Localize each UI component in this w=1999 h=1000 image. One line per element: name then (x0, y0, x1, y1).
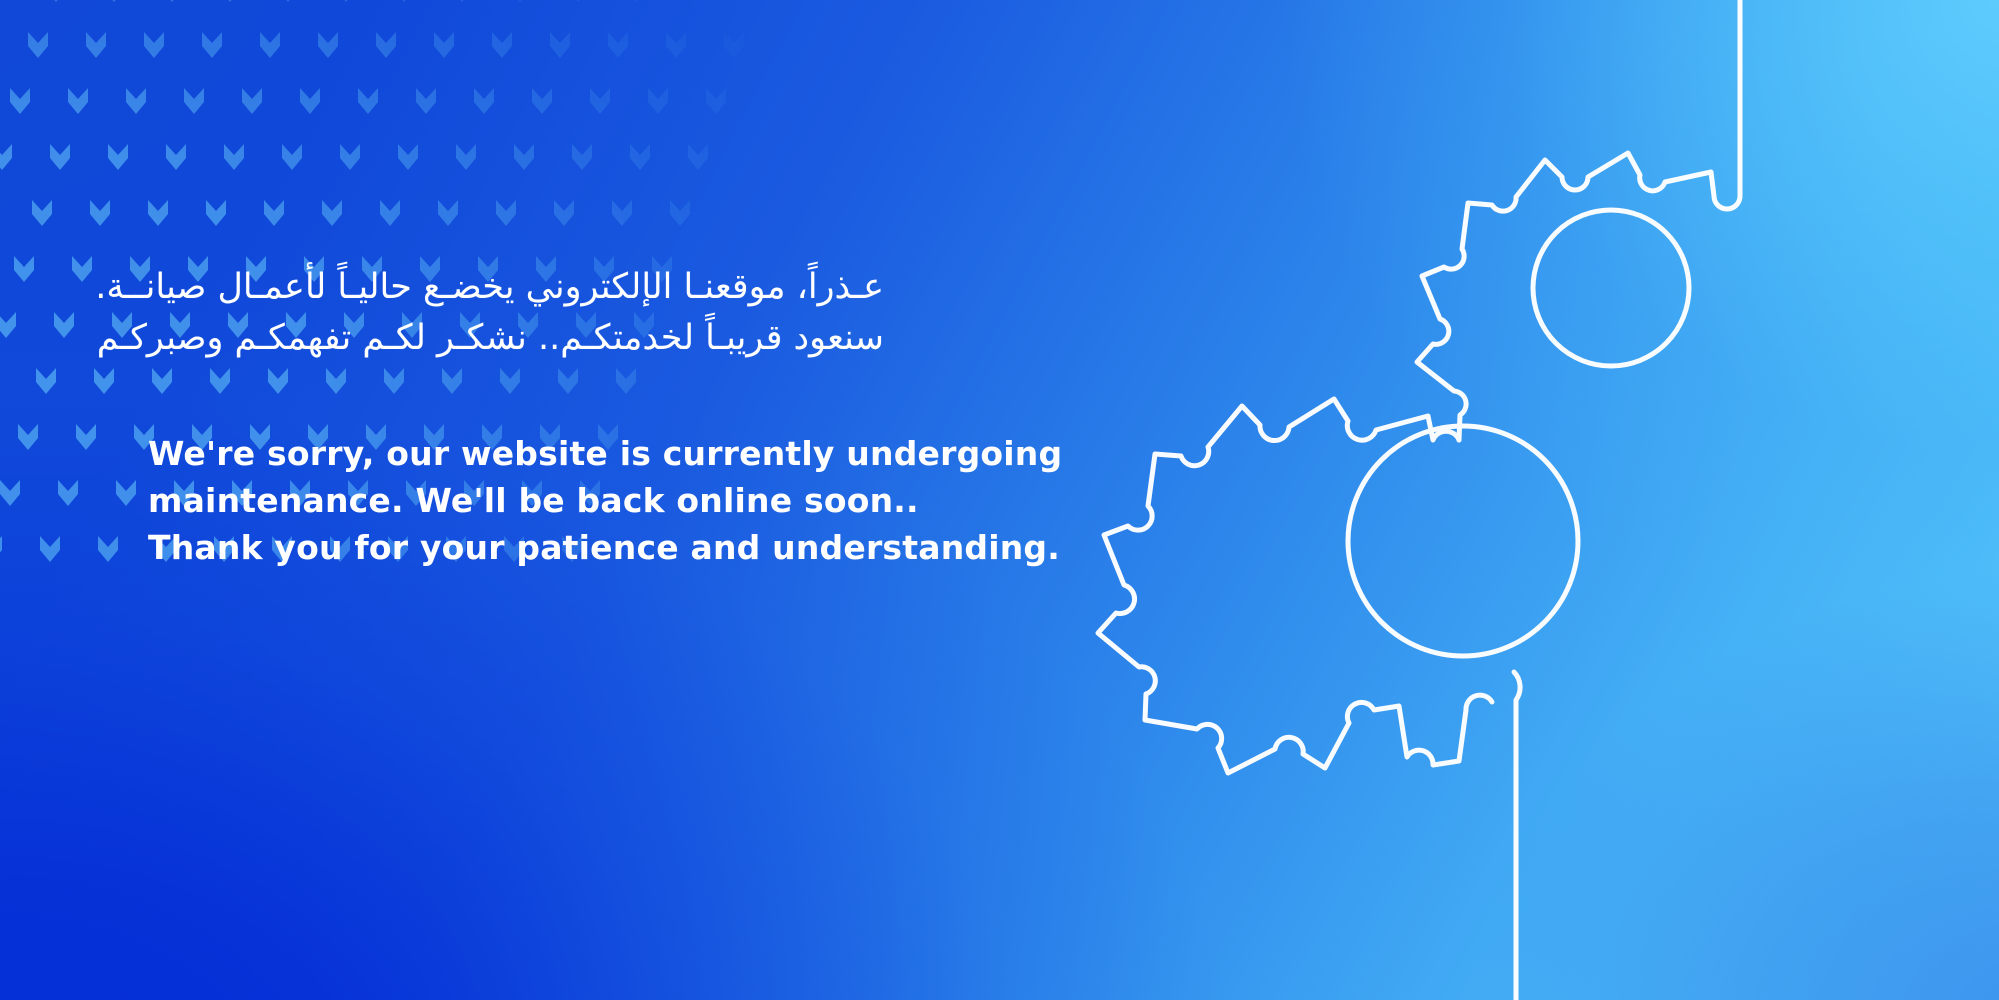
english-line-1: We're sorry, our website is currently un… (148, 431, 1148, 478)
maintenance-message: عـذراً، موقعنـا الإلكتروني يخضـع حاليـاً… (148, 262, 1148, 571)
english-line-3: Thank you for your patience and understa… (148, 525, 1148, 572)
maintenance-page: عـذراً، موقعنـا الإلكتروني يخضـع حاليـاً… (0, 0, 1999, 1000)
arabic-line-2: سنعود قريبـاً لخدمتكـم.. نشكـر لكـم تفهم… (148, 313, 884, 364)
arabic-line-1: عـذراً، موقعنـا الإلكتروني يخضـع حاليـاً… (148, 262, 884, 313)
arabic-message: عـذراً، موقعنـا الإلكتروني يخضـع حاليـاً… (148, 262, 884, 365)
english-line-2: maintenance. We'll be back online soon.. (148, 478, 1148, 525)
english-message: We're sorry, our website is currently un… (148, 431, 1148, 572)
